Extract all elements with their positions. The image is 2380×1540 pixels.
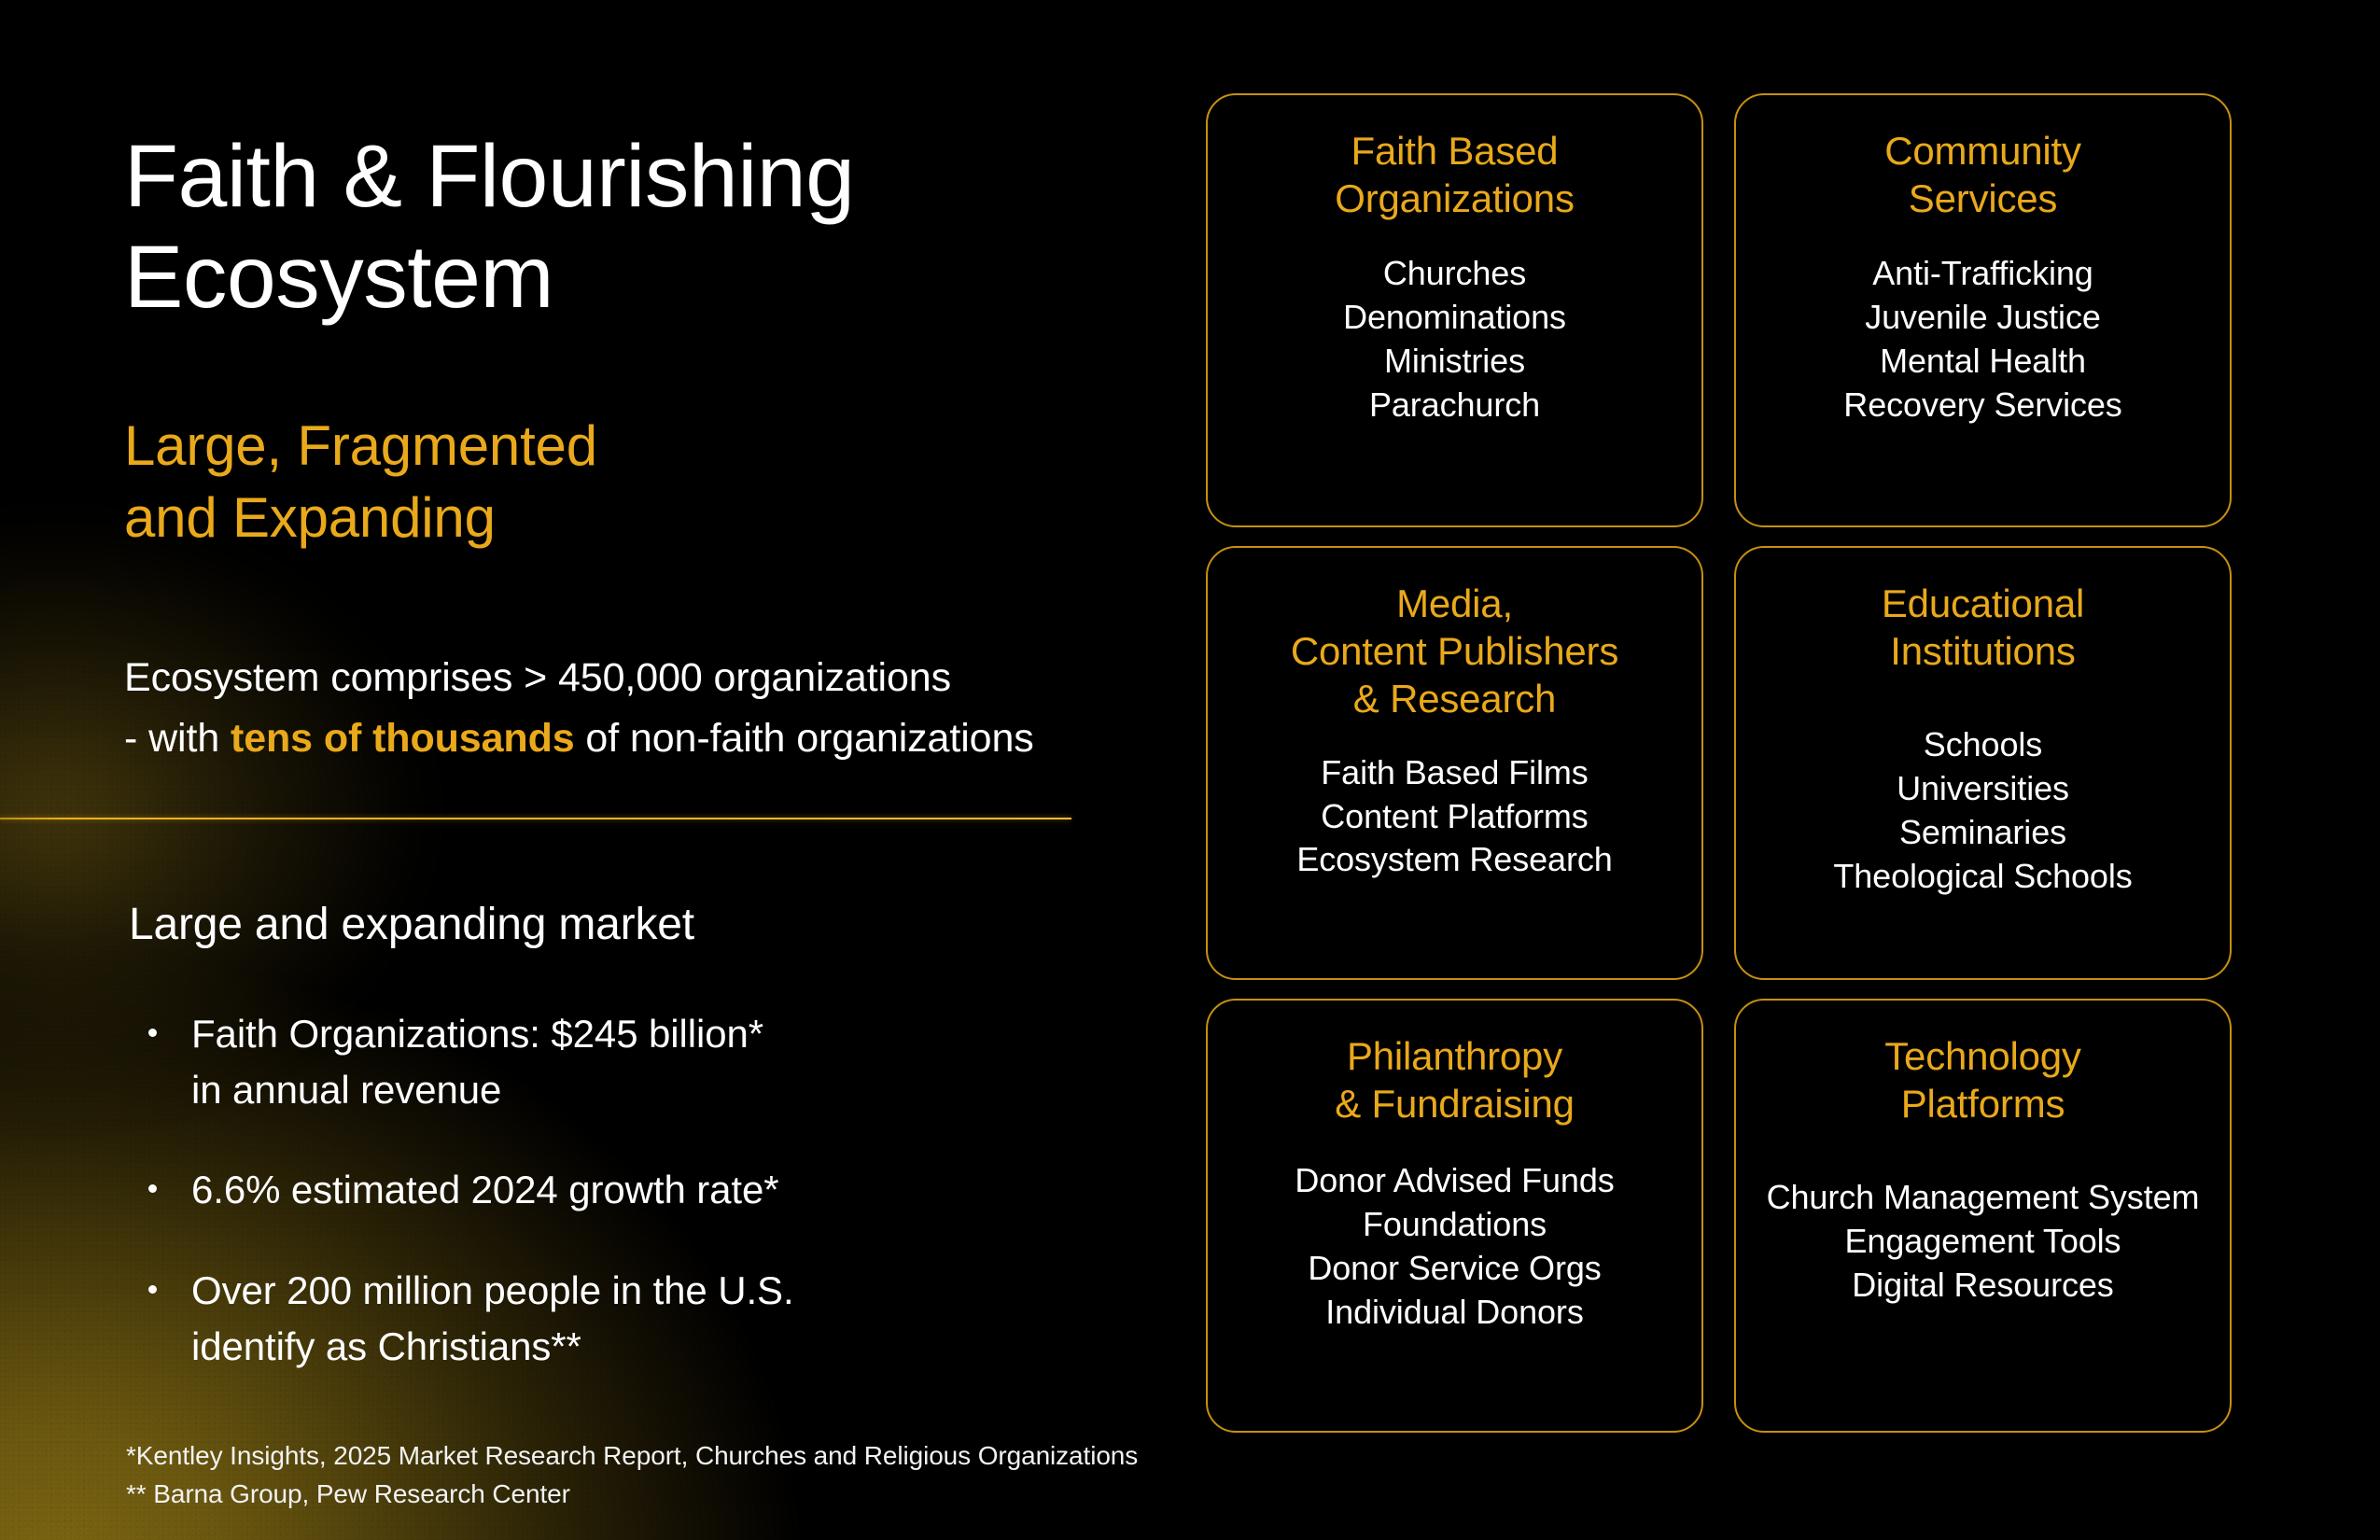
footnote-2: ** Barna Group, Pew Research Center [126,1476,1138,1514]
card-item: Recovery Services [1843,384,2121,427]
card-title: Community Services [1884,127,2081,222]
list-item: Over 200 million people in the U.S. iden… [145,1263,1078,1374]
card-title: Faith Based Organizations [1335,127,1575,222]
card-title-line-2: & Fundraising [1335,1080,1575,1127]
list-item-line-2: identify as Christians** [191,1319,1078,1375]
bullet-dot-icon [148,1285,157,1294]
card-item: Seminaries [1833,811,2132,855]
card-item: Digital Resources [1767,1264,2200,1308]
card-title: Media, Content Publishers & Research [1291,580,1618,723]
card-item: Engagement Tools [1767,1220,2200,1264]
card-educational-institutions[interactable]: Educational Institutions Schools Univers… [1734,546,2232,980]
card-title-line-1: Educational [1882,580,2084,627]
card-item: Faith Based Films [1296,751,1612,795]
card-media-content-publishers-research[interactable]: Media, Content Publishers & Research Fai… [1206,546,1703,980]
list-item-line-2: in annual revenue [191,1062,1078,1118]
card-title-line-1: Faith Based [1335,127,1575,175]
bullet-dot-icon [148,1029,157,1037]
ecosystem-summary: Ecosystem comprises > 450,000 organizati… [124,648,1141,770]
card-item: Theological Schools [1833,855,2132,899]
card-item: Ecosystem Research [1296,838,1612,882]
card-item-list: Faith Based Films Content Platforms Ecos… [1296,751,1612,882]
card-title-line-2: Services [1884,175,2081,222]
card-item: Mental Health [1843,340,2121,384]
card-title-line-2: Content Publishers [1291,627,1618,675]
card-title-line-1: Philanthropy [1335,1032,1575,1080]
list-item-line-1: Over 200 million people in the U.S. [191,1268,794,1312]
footnotes: *Kentley Insights, 2025 Market Research … [126,1437,1138,1513]
ecosystem-summary-suffix: of non-faith organizations [575,716,1034,761]
page-subtitle-line-1: Large, Fragmented [124,411,1057,483]
card-item: Juvenile Justice [1843,296,2121,340]
footnote-1: *Kentley Insights, 2025 Market Research … [126,1437,1138,1476]
section-divider [0,818,1071,819]
ecosystem-summary-line-2: - with tens of thousands of non-faith or… [124,708,1141,769]
card-item: Foundations [1295,1203,1614,1247]
card-faith-based-organizations[interactable]: Faith Based Organizations Churches Denom… [1206,93,1703,527]
card-item-list: Donor Advised Funds Foundations Donor Se… [1295,1159,1614,1334]
card-item: Churches [1343,252,1566,296]
card-title-line-2: Organizations [1335,175,1575,222]
market-section-heading: Large and expanding market [129,899,694,950]
page-title-line-1: Faith & Flourishing [124,126,1057,227]
card-philanthropy-fundraising[interactable]: Philanthropy & Fundraising Donor Advised… [1206,999,1703,1433]
card-title-line-2: Platforms [1884,1080,2080,1127]
ecosystem-summary-line-1: Ecosystem comprises > 450,000 organizati… [124,648,1141,708]
card-item-list: Churches Denominations Ministries Parach… [1343,252,1566,427]
slide-canvas: Faith & Flourishing Ecosystem Large, Fra… [0,0,2380,1540]
page-title-line-2: Ecosystem [124,227,1057,328]
card-title-line-1: Community [1884,127,2081,175]
list-item: Faith Organizations: $245 billion* in an… [145,1006,1078,1117]
card-item-list: Anti-Trafficking Juvenile Justice Mental… [1843,252,2121,427]
card-item: Universities [1833,767,2132,811]
card-technology-platforms[interactable]: Technology Platforms Church Management S… [1734,999,2232,1433]
card-title: Technology Platforms [1884,1032,2080,1127]
left-content-column: Faith & Flourishing Ecosystem Large, Fra… [0,0,1185,1540]
card-item-list: Church Management System Engagement Tool… [1767,1176,2200,1307]
list-item: 6.6% estimated 2024 growth rate* [145,1162,1078,1218]
page-title: Faith & Flourishing Ecosystem [124,126,1057,329]
card-title: Philanthropy & Fundraising [1335,1032,1575,1127]
card-item: Donor Advised Funds [1295,1159,1614,1203]
card-item: Ministries [1343,340,1566,384]
ecosystem-summary-highlight: tens of thousands [231,716,575,761]
card-item: Content Platforms [1296,795,1612,839]
card-community-services[interactable]: Community Services Anti-Trafficking Juve… [1734,93,2232,527]
list-item-line-1: 6.6% estimated 2024 growth rate* [191,1168,779,1211]
card-item: Individual Donors [1295,1291,1614,1335]
card-title-line-3: & Research [1291,675,1618,722]
card-title-line-1: Media, [1291,580,1618,627]
page-subtitle: Large, Fragmented and Expanding [124,411,1057,554]
card-item: Donor Service Orgs [1295,1247,1614,1291]
card-item-list: Schools Universities Seminaries Theologi… [1833,723,2132,898]
card-title: Educational Institutions [1882,580,2084,675]
bullet-dot-icon [148,1184,157,1193]
ecosystem-summary-prefix: - with [124,716,231,761]
card-title-line-2: Institutions [1882,627,2084,675]
ecosystem-card-grid: Faith Based Organizations Churches Denom… [1206,93,2270,1447]
card-item: Parachurch [1343,384,1566,427]
list-item-line-1: Faith Organizations: $245 billion* [191,1012,763,1056]
card-item: Church Management System [1767,1176,2200,1220]
card-item: Anti-Trafficking [1843,252,2121,296]
page-subtitle-line-2: and Expanding [124,483,1057,554]
card-item: Schools [1833,723,2132,767]
card-item: Denominations [1343,296,1566,340]
market-bullet-list: Faith Organizations: $245 billion* in an… [145,1006,1078,1374]
card-title-line-1: Technology [1884,1032,2080,1080]
